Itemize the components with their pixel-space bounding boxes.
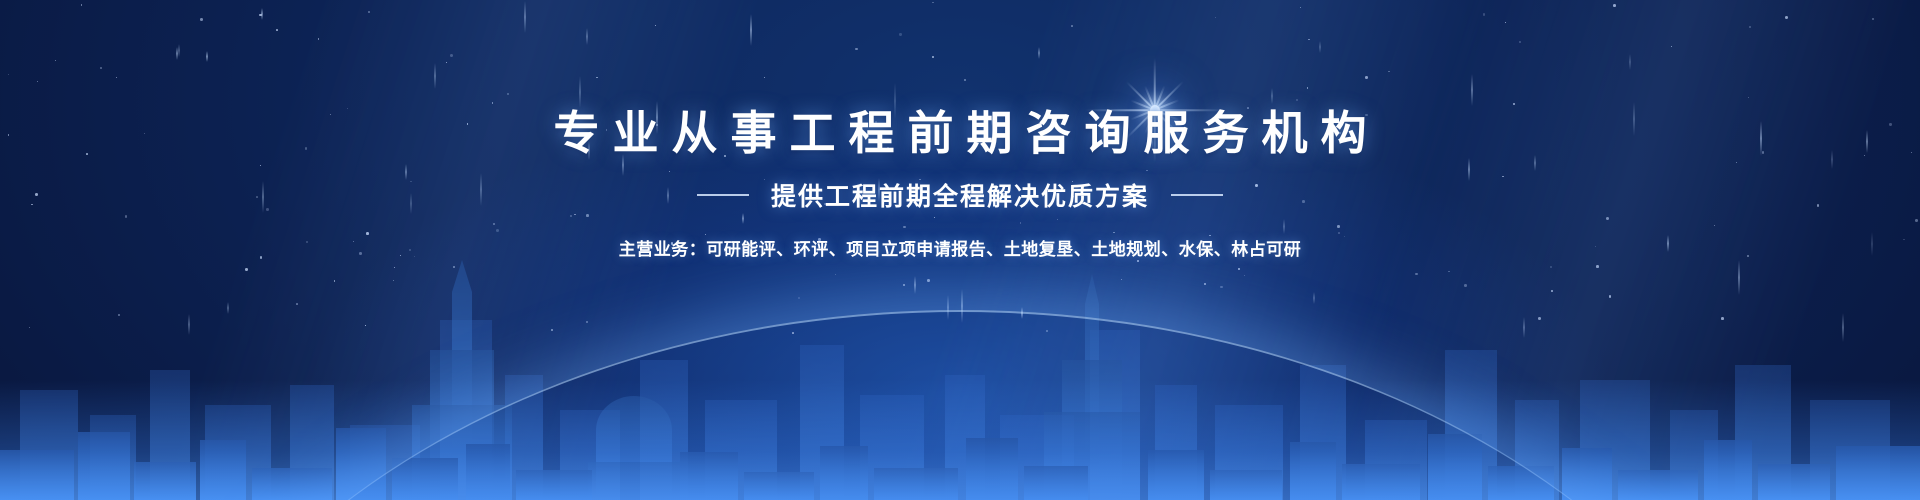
- page-subtitle: 提供工程前期全程解决优质方案: [771, 177, 1149, 213]
- left-rule-icon: [697, 194, 749, 196]
- business-scope-text: 主营业务：可研能评、环评、项目立项申请报告、土地复垦、土地规划、水保、林占可研: [619, 235, 1302, 260]
- banner-content: 专业从事工程前期咨询服务机构 提供工程前期全程解决优质方案 主营业务：可研能评、…: [0, 0, 1920, 500]
- hero-banner: 专业从事工程前期咨询服务机构 提供工程前期全程解决优质方案 主营业务：可研能评、…: [0, 0, 1920, 500]
- page-title: 专业从事工程前期咨询服务机构: [541, 108, 1380, 159]
- subtitle-row: 提供工程前期全程解决优质方案: [697, 177, 1223, 213]
- right-rule-icon: [1171, 194, 1223, 196]
